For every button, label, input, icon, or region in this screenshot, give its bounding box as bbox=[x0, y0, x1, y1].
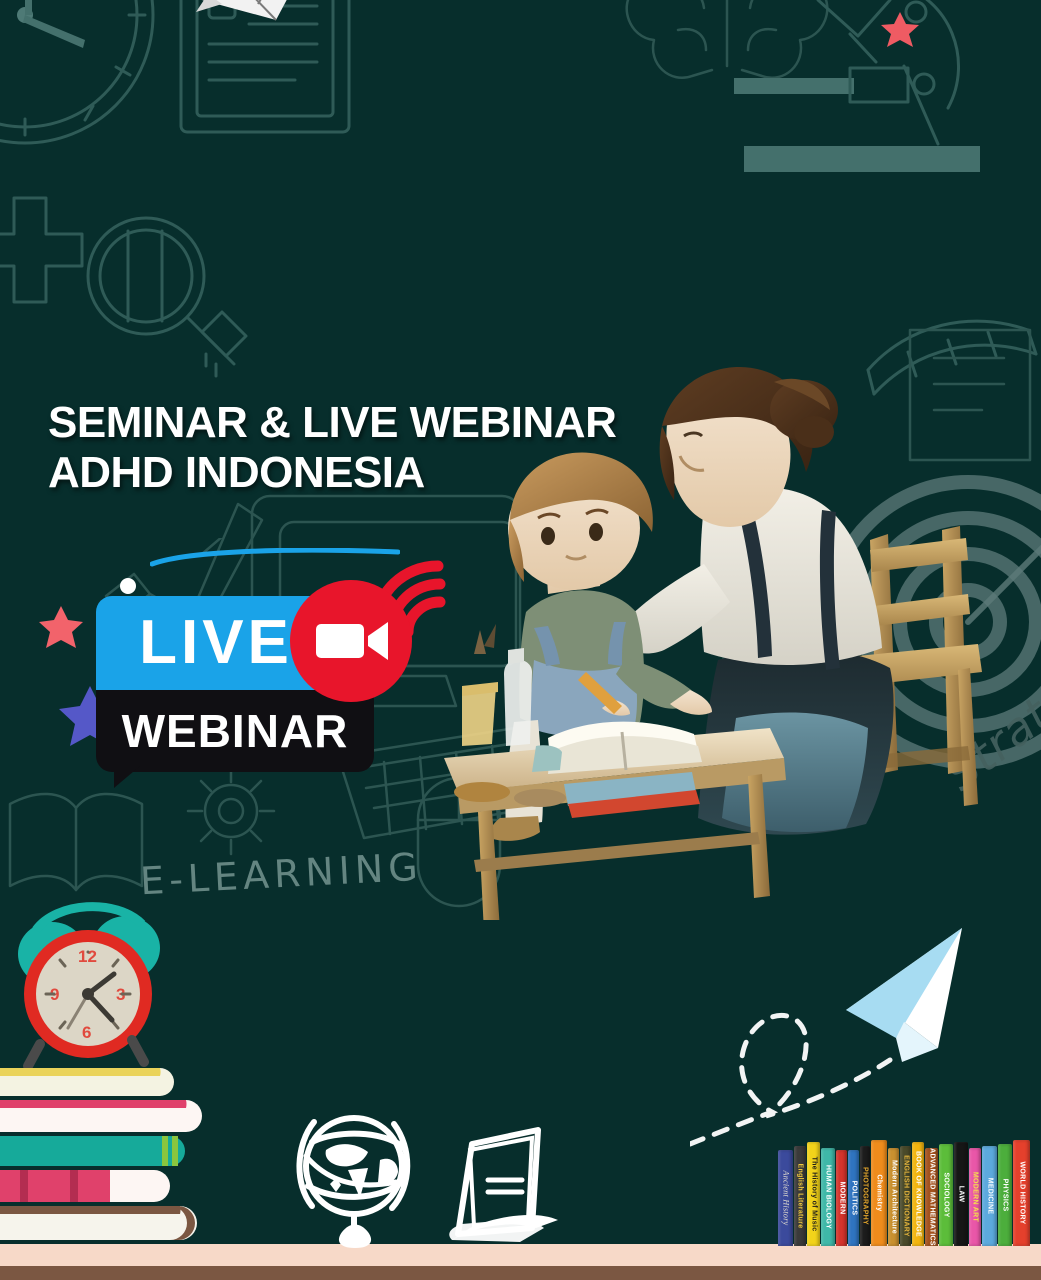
plus-doodle-icon bbox=[0, 190, 90, 310]
open-book-icon bbox=[449, 1130, 558, 1242]
book-spine-title: PHYSICS bbox=[1002, 1179, 1009, 1212]
book-spine-title: SOCIOLOGY bbox=[943, 1172, 950, 1217]
book-spine: BOOK OF KNOWLEDGE bbox=[912, 1142, 924, 1246]
book-spine: MODERN bbox=[836, 1150, 847, 1246]
book-spine-title: POLITICS bbox=[850, 1181, 857, 1216]
clock-doodle-icon bbox=[0, 0, 170, 160]
book-spine: MODERN ART bbox=[969, 1148, 981, 1246]
book-spine-title: ADVANCED MATHEMATICS bbox=[928, 1148, 935, 1246]
book-spine: SOCIOLOGY bbox=[939, 1144, 953, 1246]
book-spine-title: ENGLISH DICTIONARY bbox=[902, 1155, 909, 1237]
book-spine-title: LAW bbox=[958, 1186, 965, 1202]
open-book-doodle-icon bbox=[0, 780, 150, 910]
shelf-edge bbox=[0, 1266, 1041, 1280]
book-spine: ADVANCED MATHEMATICS bbox=[925, 1148, 938, 1246]
book-spine-title: English Literature bbox=[797, 1164, 804, 1229]
chalk-objects-group bbox=[292, 1108, 582, 1258]
magnifier-doodle-icon bbox=[84, 214, 254, 384]
book-spine-title: MEDICINE bbox=[986, 1178, 993, 1215]
alarm-clock-and-book-stack: 12 3 6 9 bbox=[0, 896, 290, 1256]
book-spine-title: The History of Music bbox=[810, 1157, 817, 1232]
seminar-webinar-poster: E-LEARNING Strategy bbox=[0, 0, 1041, 1280]
book-spine: Modern Architecture bbox=[888, 1148, 899, 1246]
video-camera-icon bbox=[290, 580, 412, 702]
svg-text:6: 6 bbox=[82, 1023, 91, 1042]
book-spine: POLITICS bbox=[848, 1150, 859, 1246]
book-spine: Chemistry bbox=[871, 1140, 887, 1246]
bookshelf-row: Ancient HistoryEnglish LiteratureThe His… bbox=[778, 1140, 1041, 1246]
book-spine: ENGLISH DICTIONARY bbox=[900, 1146, 911, 1246]
book-spine: Ancient History bbox=[778, 1150, 793, 1246]
book-stack bbox=[0, 1068, 202, 1240]
page-title: SEMINAR & LIVE WEBINAR ADHD INDONESIA bbox=[48, 398, 616, 498]
book-spine-title: Modern Architecture bbox=[890, 1160, 897, 1234]
book-spine: MEDICINE bbox=[982, 1146, 997, 1246]
star-accent-red-small bbox=[880, 10, 920, 50]
headline-line-1: SEMINAR & LIVE WEBINAR bbox=[48, 398, 616, 448]
book-spine-title: HUMAN BIOLOGY bbox=[825, 1165, 832, 1229]
book-spine: PHOTOGRAPHY bbox=[860, 1146, 870, 1246]
badge-webinar-label: WEBINAR bbox=[96, 690, 374, 772]
book-spine: LAW bbox=[954, 1142, 968, 1246]
book-spine: HUMAN BIOLOGY bbox=[821, 1148, 835, 1246]
book-spine-title: PHOTOGRAPHY bbox=[862, 1167, 869, 1225]
star-accent-red bbox=[38, 604, 84, 650]
pencil-doodle-icon bbox=[196, 0, 316, 30]
globe-base bbox=[339, 1225, 371, 1249]
book-spine-title: WORLD HISTORY bbox=[1018, 1161, 1025, 1224]
headline-line-2: ADHD INDONESIA bbox=[48, 448, 616, 498]
live-webinar-badge[interactable]: LIVE WEBINAR bbox=[96, 576, 426, 776]
book-spine-title: Chemistry bbox=[876, 1175, 883, 1212]
book-spine-title: MODERN ART bbox=[972, 1172, 979, 1222]
blue-accent-line bbox=[150, 548, 400, 568]
book-spine: English Literature bbox=[794, 1146, 806, 1246]
book-spine-title: MODERN bbox=[838, 1182, 845, 1215]
microscope-doodle-icon bbox=[700, 0, 990, 200]
book-spine-title: BOOK OF KNOWLEDGE bbox=[915, 1151, 922, 1237]
svg-text:12: 12 bbox=[78, 947, 97, 966]
book-spine-title: Ancient History bbox=[781, 1171, 790, 1226]
book-spine: PHYSICS bbox=[998, 1144, 1012, 1246]
book-spine: WORLD HISTORY bbox=[1013, 1140, 1030, 1246]
book-spine: The History of Music bbox=[807, 1142, 820, 1246]
